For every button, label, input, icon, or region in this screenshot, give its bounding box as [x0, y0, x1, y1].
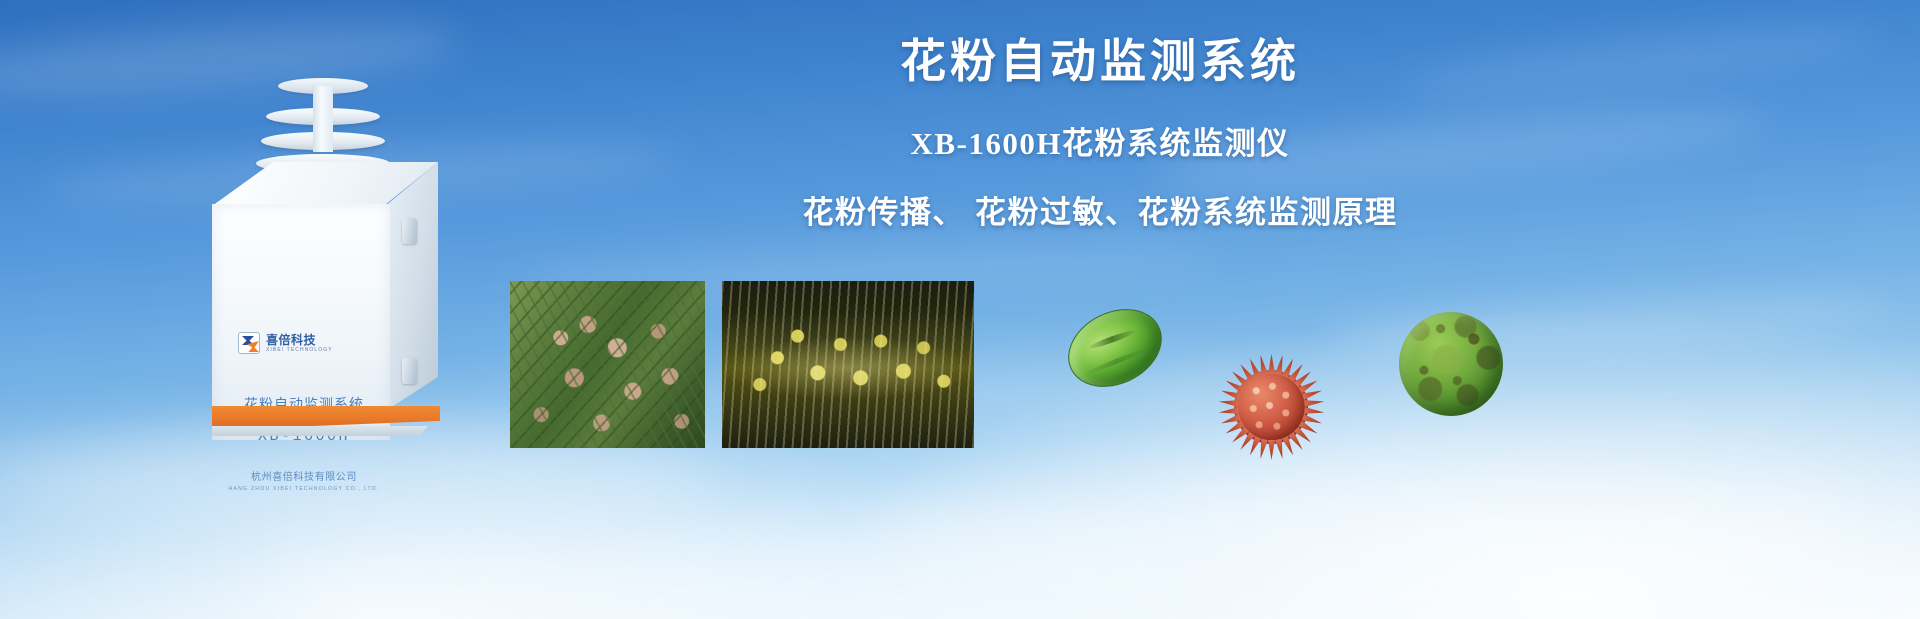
catkin-stamen-texture — [722, 281, 974, 448]
pollen-monitoring-banner: 喜倍科技 XIBEI TECHNOLOGY 花粉自动监测系统 XB-1600H … — [0, 0, 1920, 619]
cabinet-door-handle-bottom[interactable] — [402, 358, 417, 384]
pollen-furrow-icon — [1088, 348, 1145, 375]
spiky-red-pollen-grain — [1216, 352, 1326, 462]
brand-name-en: XIBEI TECHNOLOGY — [266, 348, 333, 353]
pollen-spike-icon — [1268, 354, 1275, 374]
brand-logo: 喜倍科技 XIBEI TECHNOLOGY — [238, 332, 333, 354]
instrument-company-block: 杭州喜倍科技有限公司 HANG ZHOU XIBEI TECHNOLOGY CO… — [212, 468, 396, 492]
brand-logo-text: 喜倍科技 XIBEI TECHNOLOGY — [266, 334, 333, 353]
xibei-logo-icon — [238, 332, 260, 354]
rough-green-pollen-grain — [1399, 312, 1503, 416]
pollen-spike-icon — [1268, 440, 1275, 460]
company-name-cn: 杭州喜倍科技有限公司 — [212, 468, 396, 483]
brand-name-cn: 喜倍科技 — [266, 334, 333, 346]
cloud-streak — [260, 520, 1160, 619]
headline-block: 花粉自动监测系统 XB-1600H花粉系统监测仪 花粉传播、 花粉过敏、花粉系统… — [520, 36, 1680, 232]
cabinet-foot — [212, 426, 428, 436]
headline-topics-subtitle: 花粉传播、 花粉过敏、花粉系统监测原理 — [520, 187, 1680, 232]
intake-stem-icon — [313, 86, 333, 152]
company-name-en: HANG ZHOU XIBEI TECHNOLOGY CO., LTD. — [212, 486, 396, 492]
headline-model-subtitle: XB-1600H花粉系统监测仪 — [520, 118, 1680, 163]
pollen-furrow-icon — [1088, 329, 1135, 351]
cypress-needles-texture — [510, 281, 705, 448]
page-title: 花粉自动监测系统 — [520, 36, 1680, 88]
pollen-monitor-instrument: 喜倍科技 XIBEI TECHNOLOGY 花粉自动监测系统 XB-1600H … — [206, 78, 466, 438]
cloud-streak — [880, 470, 1860, 580]
catkin-flower-photo — [722, 281, 974, 448]
smooth-green-pollen-grain — [1055, 294, 1175, 402]
pollen-surface-specks — [1399, 312, 1503, 416]
cabinet-door-handle-top[interactable] — [402, 218, 417, 244]
cabinet-front-panel: 喜倍科技 XIBEI TECHNOLOGY 花粉自动监测系统 XB-1600H … — [212, 204, 390, 440]
cypress-cones-photo — [510, 281, 705, 448]
